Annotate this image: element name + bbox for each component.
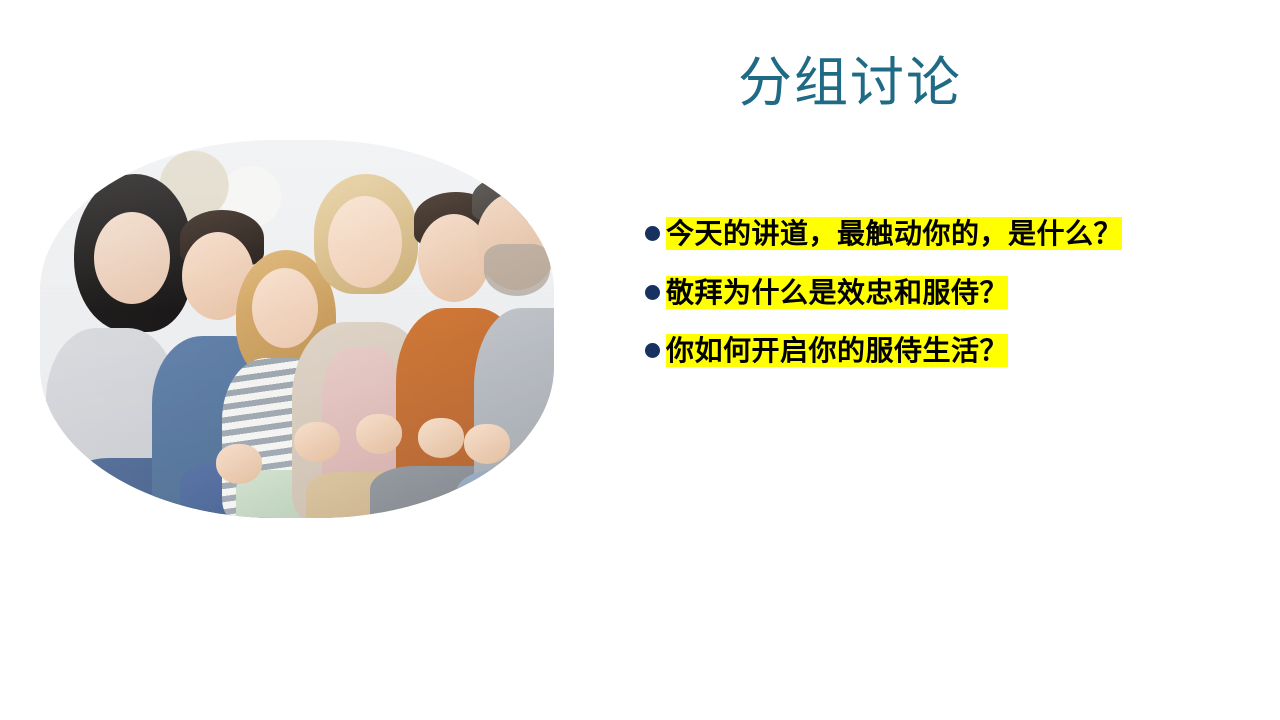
list-item: 今天的讲道，最触动你的，是什么？ xyxy=(645,214,1185,255)
question-text-3: 你如何开启你的服侍生活？ xyxy=(666,331,1185,372)
list-item: 你如何开启你的服侍生活？ xyxy=(645,331,1185,372)
bullet-dot-icon xyxy=(645,285,660,300)
bullet-dot-icon xyxy=(645,226,660,241)
bullet-dot-icon xyxy=(645,343,660,358)
group-discussion-photo xyxy=(40,140,554,518)
question-text-1: 今天的讲道，最触动你的，是什么？ xyxy=(666,214,1164,255)
slide-canvas: 分组讨论 xyxy=(0,0,1280,720)
photo-scene xyxy=(40,140,554,518)
photo-overlay xyxy=(40,140,554,518)
discussion-question-list: 今天的讲道，最触动你的，是什么？ 敬拜为什么是效忠和服侍？ 你如何开启你的服侍生… xyxy=(645,214,1185,372)
page-title: 分组讨论 xyxy=(600,52,1100,114)
list-item: 敬拜为什么是效忠和服侍？ xyxy=(645,273,1185,314)
question-text-2: 敬拜为什么是效忠和服侍？ xyxy=(666,273,1185,314)
